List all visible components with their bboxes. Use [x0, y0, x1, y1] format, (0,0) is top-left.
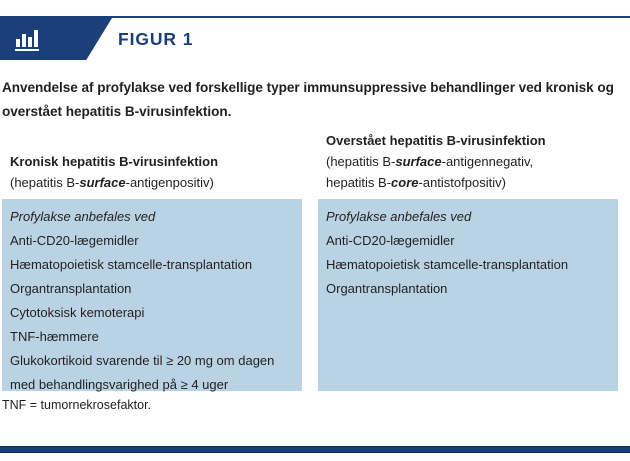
list-item: Anti-CD20-lægemidler	[326, 229, 610, 253]
column-subtitle: (hepatitis B-surface-antigenpositiv)	[10, 172, 302, 193]
column-title: Overstået hepatitis B-virusinfektion	[326, 130, 618, 151]
list-item: Hæmatopoietisk stamcelle-transplantation	[10, 253, 294, 277]
bar-chart-icon	[12, 24, 42, 54]
column-body-resolved: Profylakse anbefales ved Anti-CD20-lægem…	[318, 199, 618, 391]
subtitle-post: -antigennegativ,	[442, 154, 534, 169]
figure-footnote: TNF = tumornekrosefaktor.	[2, 396, 151, 414]
column-header-chronic: Kronisk hepatitis B-virusinfektion (hepa…	[2, 128, 302, 193]
list-item: Organtransplantation	[10, 277, 294, 301]
column-subtitle: (hepatitis B-surface-antigennegativ,	[326, 151, 618, 172]
figure-panel: FIGUR 1 Anvendelse af profylakse ved for…	[0, 0, 630, 461]
subtitle-pre: (hepatitis B-	[326, 154, 395, 169]
subtitle2-pre: hepatitis B-	[326, 175, 391, 190]
subtitle-pre: (hepatitis B-	[10, 175, 79, 190]
list-item: Glukokortikoid svarende til ≥ 20 mg om d…	[10, 349, 294, 397]
subtitle2-post: -antistofpositiv)	[419, 175, 506, 190]
figure-header: FIGUR 1	[0, 18, 630, 60]
subtitle-emphasis: surface	[79, 175, 125, 190]
subtitle-post: -antigenpositiv)	[126, 175, 214, 190]
subtitle-emphasis: surface	[395, 154, 441, 169]
list-item: Organtransplantation	[326, 277, 610, 301]
figure-label: FIGUR 1	[118, 28, 193, 50]
list-item: Anti-CD20-lægemidler	[10, 229, 294, 253]
list-item: Cytotoksisk kemoterapi	[10, 301, 294, 325]
figure-caption: Anvendelse af profylakse ved forskellige…	[2, 76, 628, 124]
list-item: Profylakse anbefales ved	[10, 205, 294, 229]
column-body-chronic: Profylakse anbefales ved Anti-CD20-lægem…	[2, 199, 302, 391]
list-item: Profylakse anbefales ved	[326, 205, 610, 229]
list-item: TNF-hæmmere	[10, 325, 294, 349]
table-column-chronic: Kronisk hepatitis B-virusinfektion (hepa…	[2, 128, 302, 391]
column-header-resolved: Overstået hepatitis B-virusinfektion (he…	[318, 128, 618, 193]
bottom-divider	[0, 446, 630, 453]
subtitle2-emphasis: core	[391, 175, 418, 190]
column-title: Kronisk hepatitis B-virusinfektion	[10, 151, 302, 172]
column-subtitle-line2: hepatitis B-core-antistofpositiv)	[326, 172, 618, 193]
list-item: Hæmatopoietisk stamcelle-transplantation	[326, 253, 610, 277]
table-column-resolved: Overstået hepatitis B-virusinfektion (he…	[318, 128, 618, 391]
